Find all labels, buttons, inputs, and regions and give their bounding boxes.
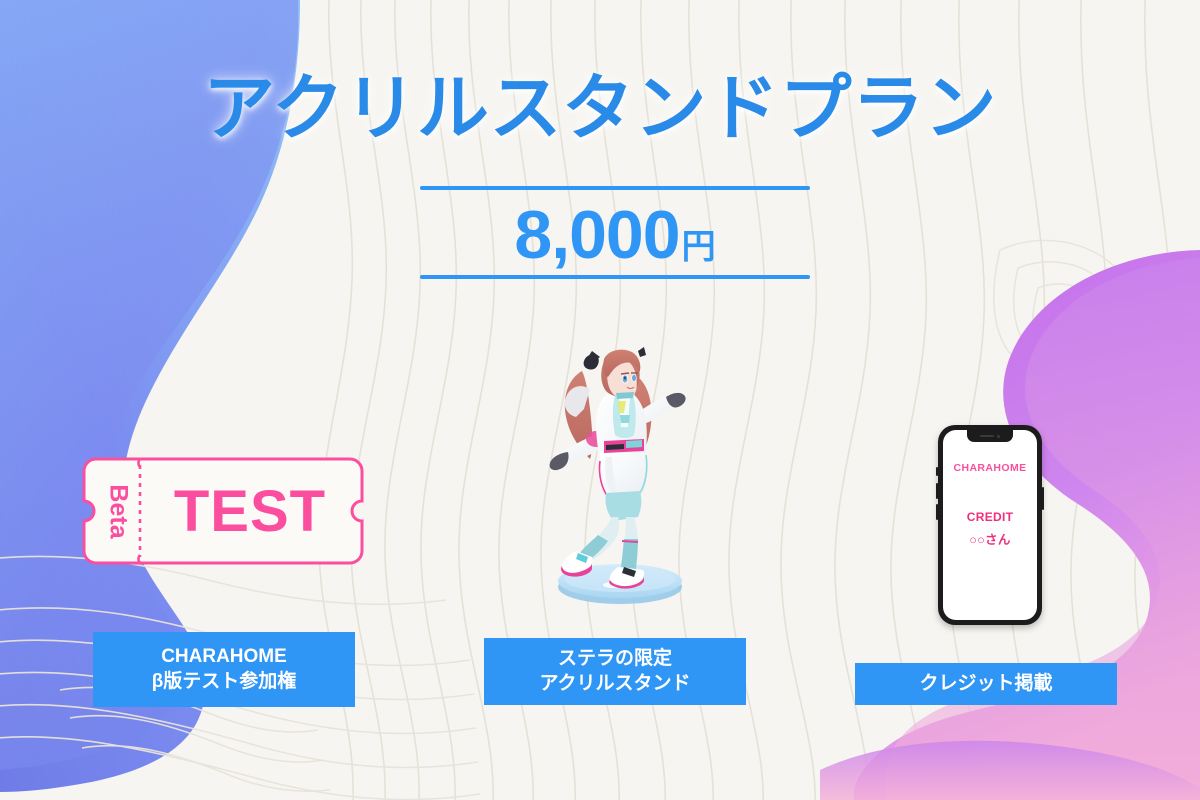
phone-volume-down-button (936, 504, 938, 520)
price-rule-bottom (420, 275, 810, 279)
phone-camera-icon (997, 435, 1000, 438)
price-row: 8,000 円 (420, 190, 810, 275)
benefit-label-acrylic-stand: ステラの限定 アクリルスタンド (484, 638, 746, 705)
phone-credit-heading: CREDIT (967, 510, 1013, 524)
character-acrylic-stand-figure (520, 335, 720, 625)
phone-mute-switch (936, 467, 938, 476)
page-title-text: アクリルスタンドプラン (0, 72, 1200, 148)
phone-mockup: CHARAHOME CREDIT ○○さん (938, 425, 1042, 625)
phone-speaker-icon (980, 435, 994, 437)
benefit-label-credit: クレジット掲載 (855, 663, 1117, 705)
phone-brand-text: CHARAHOME (953, 462, 1026, 474)
benefit-label-3-line1: クレジット掲載 (919, 672, 1052, 696)
benefit-label-2-line2: アクリルスタンド (539, 672, 690, 696)
beta-test-ticket: Beta TEST (82, 457, 364, 565)
benefit-label-beta-test: CHARAHOME β版テスト参加権 (93, 632, 355, 707)
phone-notch (967, 430, 1013, 442)
character-illustration-icon (520, 335, 720, 625)
price-amount: 8,000 (514, 201, 679, 269)
ticket-beta-text: Beta (104, 484, 133, 538)
benefit-label-1-line2: β版テスト参加権 (152, 670, 297, 694)
phone-power-button (1042, 487, 1044, 510)
phone-screen: CHARAHOME CREDIT ○○さん (943, 430, 1037, 620)
price-block: 8,000 円 (420, 186, 810, 279)
ticket-test-label: TEST (144, 457, 356, 565)
ticket-beta-label: Beta (96, 457, 140, 565)
benefit-label-2-line1: ステラの限定 (539, 647, 690, 671)
page-title: アクリルスタンドプラン (0, 72, 1200, 148)
phone-volume-up-button (936, 483, 938, 499)
price-currency: 円 (682, 230, 716, 264)
plan-banner: アクリルスタンドプラン 8,000 円 Beta TEST (0, 0, 1200, 800)
phone-credit-name: ○○さん (969, 529, 1010, 548)
benefit-label-1-line1: CHARAHOME (152, 645, 297, 669)
